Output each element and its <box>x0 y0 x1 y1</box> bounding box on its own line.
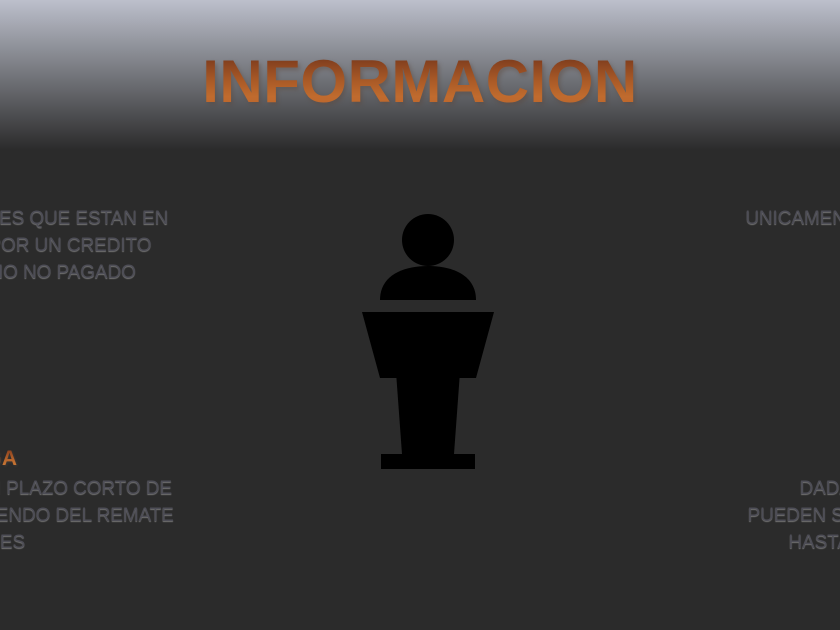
block-heading-entrega: ENTREGA <box>0 446 174 472</box>
block-heading-inmuebles: INMUEBLES <box>748 446 840 472</box>
block-line: GARANTIA POR UN CREDITO <box>0 233 168 260</box>
block-heading-pago: PAGO <box>745 176 840 202</box>
podium-column-icon <box>396 372 460 454</box>
podium-base-icon <box>381 454 475 469</box>
text-block-inmuebles: INMUEBLES DADA SU SITUACION PUEDEN SER V… <box>748 446 840 557</box>
block-heading-remates: REMATES <box>0 176 168 202</box>
block-line: DE INTERES <box>0 530 174 557</box>
block-line: DADA SU SITUACION <box>748 476 840 503</box>
block-line: PROPIEDADES QUE ESTAN EN <box>0 206 168 233</box>
block-line: PUEDEN SER VISTOS POR <box>748 503 840 530</box>
podium-lectern-top-icon <box>362 312 494 378</box>
text-block-pago: PAGO UNICAMENTE CONTADO <box>745 176 840 233</box>
podium-speaker-icon <box>340 208 520 476</box>
podium-torso-icon <box>380 266 476 300</box>
block-line: HASTA LA ESCRITURA <box>748 530 840 557</box>
text-block-entrega: ENTREGA SE DE UN PLAZO CORTO DE DEPENDIE… <box>0 446 174 557</box>
podium-head-icon <box>402 214 454 266</box>
block-line: HIPOTECARIO NO PAGADO <box>0 260 168 287</box>
block-line: UNICAMENTE CONTADO <box>745 206 840 233</box>
block-line: DEPENDIENDO DEL REMATE <box>0 503 174 530</box>
text-block-remates: REMATES PROPIEDADES QUE ESTAN EN GARANTI… <box>0 176 168 287</box>
slide-canvas: INFORMACION REMATES PROPIEDADES QUE ESTA… <box>0 0 840 630</box>
block-line: SE DE UN PLAZO CORTO DE <box>0 476 174 503</box>
page-title: INFORMACION <box>0 50 840 113</box>
